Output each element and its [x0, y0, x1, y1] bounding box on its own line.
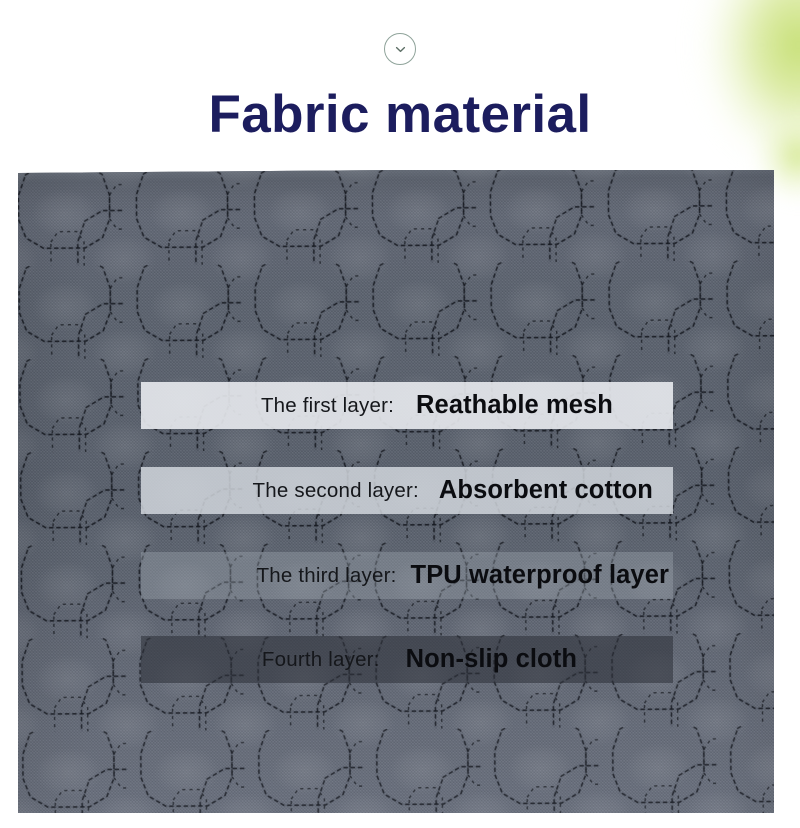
layer-prefix-label: Fourth layer: — [262, 648, 380, 672]
layer-row[interactable]: The second layer: Absorbent cotton — [141, 467, 673, 514]
page-title: Fabric material — [0, 86, 800, 143]
layer-value-label: Absorbent cotton — [439, 476, 653, 505]
fabric-material-section: Fabric material — [0, 0, 800, 828]
layer-value-label: TPU waterproof layer — [411, 561, 669, 590]
chevron-down-icon[interactable] — [384, 33, 416, 65]
layer-value-label: Reathable mesh — [416, 391, 613, 420]
layer-row[interactable]: The first layer: Reathable mesh — [141, 382, 673, 429]
section-header: Fabric material — [0, 0, 800, 175]
bottom-spacer — [0, 813, 800, 828]
layer-prefix-label: The second layer: — [253, 479, 419, 503]
layer-prefix-label: The first layer: — [261, 394, 394, 418]
layer-value-label: Non-slip cloth — [406, 645, 577, 674]
layer-prefix-label: The third layer: — [257, 564, 397, 588]
layer-row[interactable]: Fourth layer: Non-slip cloth — [141, 636, 673, 683]
layer-row[interactable]: The third layer: TPU waterproof layer — [141, 552, 673, 599]
